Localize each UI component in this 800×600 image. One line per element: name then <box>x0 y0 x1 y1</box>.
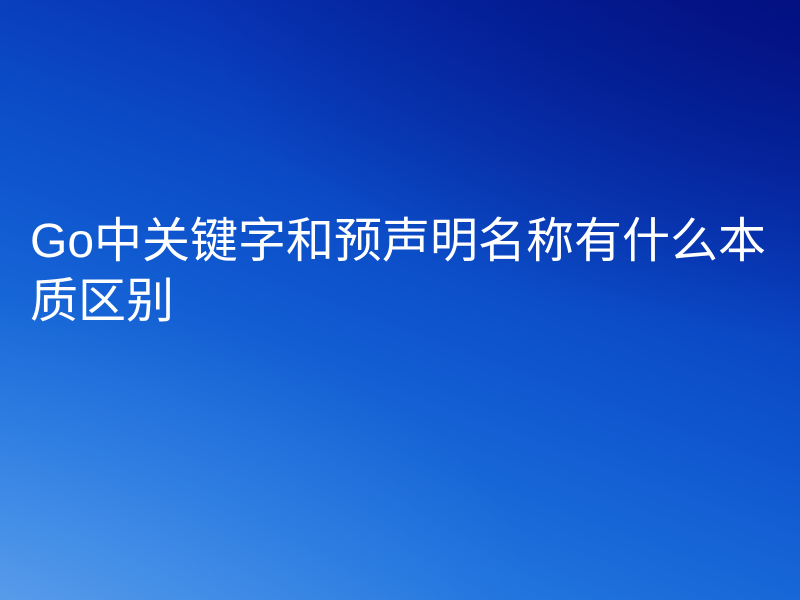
banner-background: Go中关键字和预声明名称有什么本质区别 <box>0 0 800 600</box>
title-block: Go中关键字和预声明名称有什么本质区别 <box>30 212 778 332</box>
banner-title: Go中关键字和预声明名称有什么本质区别 <box>30 212 778 332</box>
